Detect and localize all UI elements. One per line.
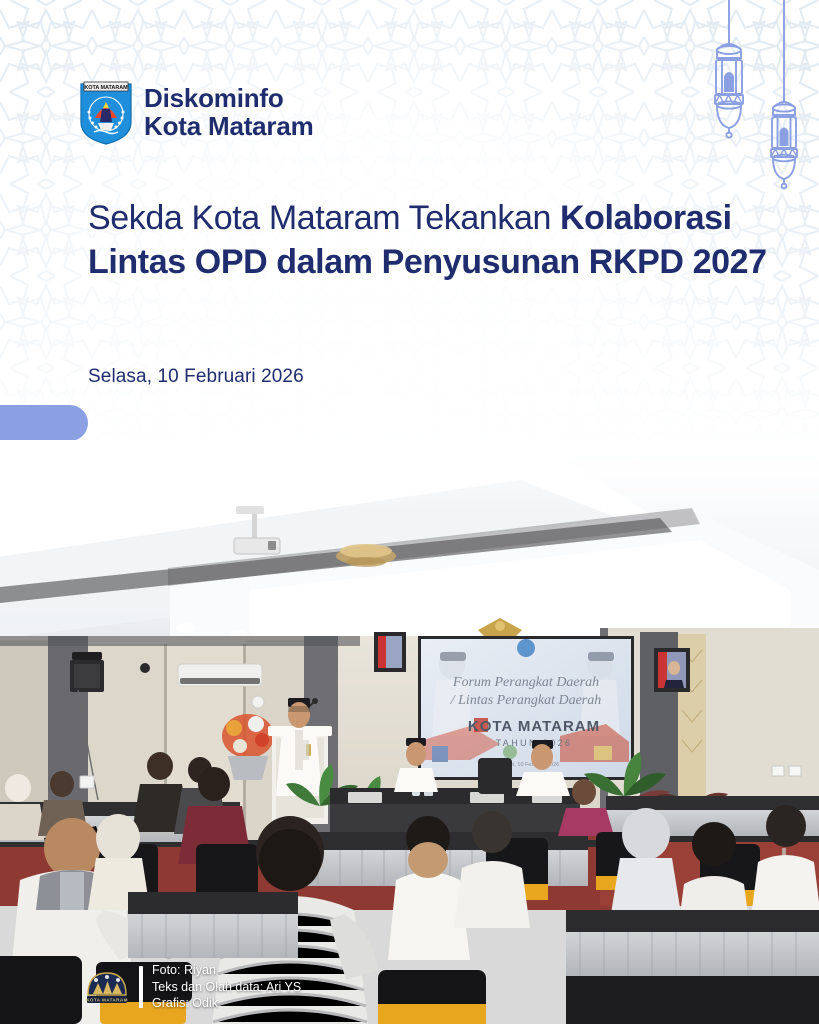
brand-lockup: KOTA MATARAM Disk <box>78 80 314 146</box>
credit-graphics: Grafis: Odik <box>152 995 301 1012</box>
page-title: Sekda Kota Mataram Tekankan Kolaborasi L… <box>88 196 778 284</box>
photo-credits: KOTA MATARAM Foto: Riyan Teks dan Olah d… <box>84 962 301 1012</box>
brand-name-line1: Diskominfo <box>144 85 314 113</box>
publish-date: Selasa, 10 Februari 2026 <box>88 366 304 388</box>
credits-divider <box>139 966 143 1008</box>
svg-text:Forum Perangkat Daerah: Forum Perangkat Daerah <box>452 675 599 690</box>
poster-header: KOTA MATARAM Disk <box>0 0 819 460</box>
hanging-lantern-icon <box>771 0 797 188</box>
headline-regular: Sekda Kota Mataram Tekankan <box>88 199 560 237</box>
accent-pill-shape <box>0 405 88 441</box>
event-photo: Forum Perangkat Daerah / Lintas Perangka… <box>0 440 819 1024</box>
lantern-decoration-group <box>689 0 819 200</box>
credit-text-data: Teks dan Olah data: Ari YS <box>152 979 301 996</box>
kota-mataram-crest-icon: KOTA MATARAM <box>78 80 134 146</box>
mataram-emblem-icon: KOTA MATARAM <box>84 965 130 1009</box>
hanging-lantern-icon <box>715 0 743 138</box>
credit-photo: Foto: Riyan <box>152 962 301 979</box>
svg-text:KOTA MATARAM: KOTA MATARAM <box>468 718 600 735</box>
svg-text:KOTA MATARAM: KOTA MATARAM <box>86 997 128 1002</box>
news-poster: KOTA MATARAM Disk <box>0 0 819 1024</box>
brand-name-line2: Kota Mataram <box>144 113 314 141</box>
svg-text:KOTA MATARAM: KOTA MATARAM <box>84 85 128 91</box>
svg-text:/ Lintas Perangkat Daerah: / Lintas Perangkat Daerah <box>450 693 602 708</box>
